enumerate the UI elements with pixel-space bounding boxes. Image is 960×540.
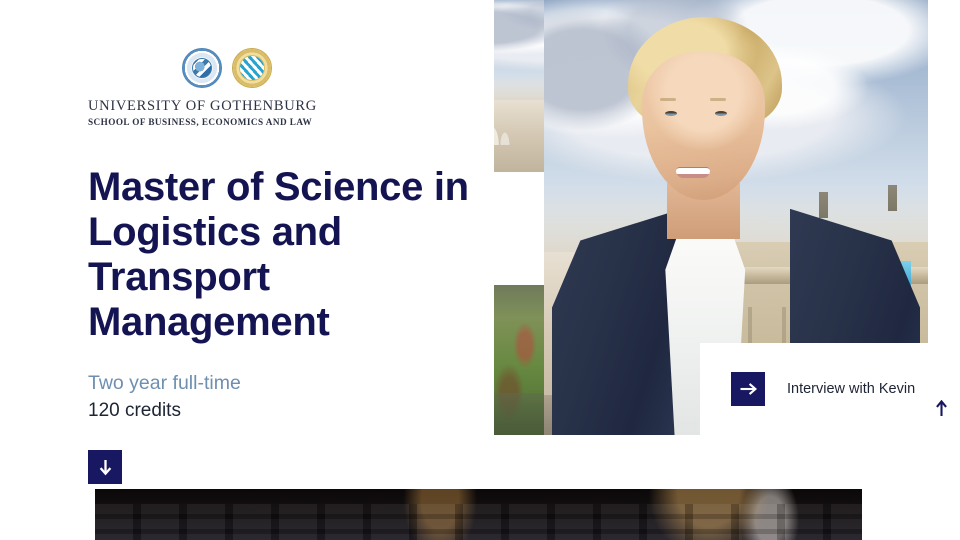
university-name: UNIVERSITY OF GOTHENBURG xyxy=(88,98,310,115)
university-crest-seal-icon xyxy=(182,48,222,88)
scroll-down-button[interactable] xyxy=(88,450,122,484)
eye xyxy=(715,111,727,116)
cloud-layer xyxy=(494,0,544,69)
hero-page: UNIVERSITY OF GOTHENBURG SCHOOL OF BUSIN… xyxy=(0,0,960,540)
sky-strip-image xyxy=(494,0,544,172)
seat-rows xyxy=(95,504,862,540)
school-crest-seal-icon xyxy=(232,48,272,88)
programme-credits: 120 credits xyxy=(88,398,498,424)
cityscape-layer xyxy=(494,74,544,172)
university-logo[interactable]: UNIVERSITY OF GOTHENBURG SCHOOL OF BUSIN… xyxy=(88,44,310,127)
lecture-hall-scene xyxy=(95,489,862,540)
back-to-top-button[interactable] xyxy=(932,397,950,419)
page-title: Master of Science in Logistics and Trans… xyxy=(88,165,508,345)
arrow-up-icon xyxy=(935,400,948,417)
programme-duration: Two year full-time xyxy=(88,370,498,396)
logo-seals xyxy=(144,44,310,92)
interview-arrow-button[interactable] xyxy=(731,372,765,406)
eyebrow xyxy=(710,98,726,101)
school-name: SCHOOL OF BUSINESS, ECONOMICS AND LAW xyxy=(88,117,310,127)
street-level xyxy=(494,393,544,435)
arrow-right-icon xyxy=(740,382,757,396)
interview-link-label: Interview with Kevin xyxy=(787,381,915,397)
eye xyxy=(665,111,677,116)
eyebrow xyxy=(660,98,676,101)
lecture-hall-image xyxy=(95,489,862,540)
hero-text-column: UNIVERSITY OF GOTHENBURG SCHOOL OF BUSIN… xyxy=(88,44,498,484)
smiling-mouth xyxy=(676,167,710,178)
interview-link-card[interactable]: Interview with Kevin xyxy=(700,343,960,435)
jacket-left-shoulder xyxy=(552,209,683,435)
arrow-down-icon xyxy=(98,459,113,476)
distant-basilica xyxy=(494,111,521,145)
